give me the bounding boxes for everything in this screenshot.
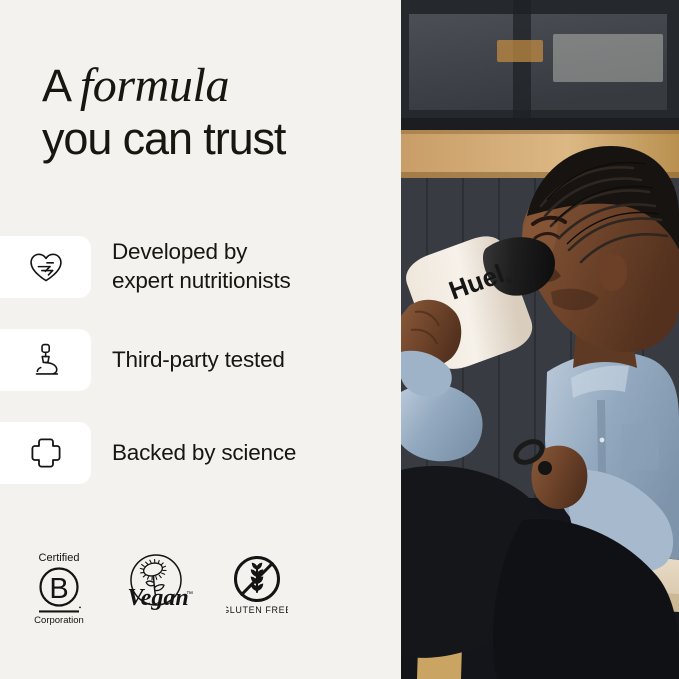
page-title: A formula you can trust [42, 62, 387, 162]
headline-word-a: A [42, 60, 80, 111]
photo-shelf-box [553, 34, 663, 82]
feature-icon-card [0, 422, 91, 484]
feature-row-nutritionists: Developed by expert nutritionists [0, 236, 401, 298]
gluten-free-logo: GLUTEN FREE [226, 549, 288, 621]
photo-shelf-object [497, 40, 543, 62]
headline-word-formula: formula [80, 59, 229, 112]
certification-badge-row: Certified B Corporation [28, 549, 288, 625]
badge-vegan: Vegan ™ [122, 549, 194, 619]
photo-shirt-button [600, 438, 605, 443]
headline-line-1: A formula [42, 62, 387, 111]
lifestyle-photo: Huel ® [401, 0, 679, 679]
feature-icon-card [0, 329, 91, 391]
medical-cross-icon [29, 436, 63, 470]
hero-panel: A formula you can trust [0, 0, 679, 679]
gluten-free-bottom-text: GLUTEN FREE [226, 605, 288, 615]
left-content-panel: A formula you can trust [0, 0, 401, 679]
vegan-trademark: ™ [186, 591, 193, 598]
photo-cabinet-lip [401, 118, 679, 130]
b-corp-bottom-text: Corporation [34, 615, 84, 625]
badge-b-corp: Certified B Corporation [28, 549, 90, 625]
photo-lid-knob [538, 461, 552, 475]
vegan-society-logo: Vegan ™ [122, 549, 194, 619]
feature-label: Developed by expert nutritionists [112, 238, 291, 296]
b-corp-top-text: Certified [39, 552, 80, 564]
photo-wood-edge-top [401, 130, 679, 134]
feature-label: Third-party tested [112, 346, 285, 375]
b-corp-logo: Certified B Corporation [28, 549, 90, 625]
b-corp-mark-text: B [49, 573, 68, 605]
badge-gluten-free: GLUTEN FREE [226, 549, 288, 621]
photo-shirt-pocket [621, 424, 659, 470]
feature-label: Backed by science [112, 439, 296, 468]
feature-icon-card [0, 236, 91, 298]
headline-line-2: you can trust [42, 116, 387, 162]
feature-list: Developed by expert nutritionists [0, 236, 401, 515]
microscope-icon [29, 342, 63, 378]
vegan-mark-text: Vegan [127, 585, 188, 611]
feature-row-backed-by-science: Backed by science [0, 422, 401, 484]
photo-cabinet-divider [513, 0, 531, 128]
heart-pulse-icon [27, 250, 65, 284]
feature-row-third-party-tested: Third-party tested [0, 329, 401, 391]
